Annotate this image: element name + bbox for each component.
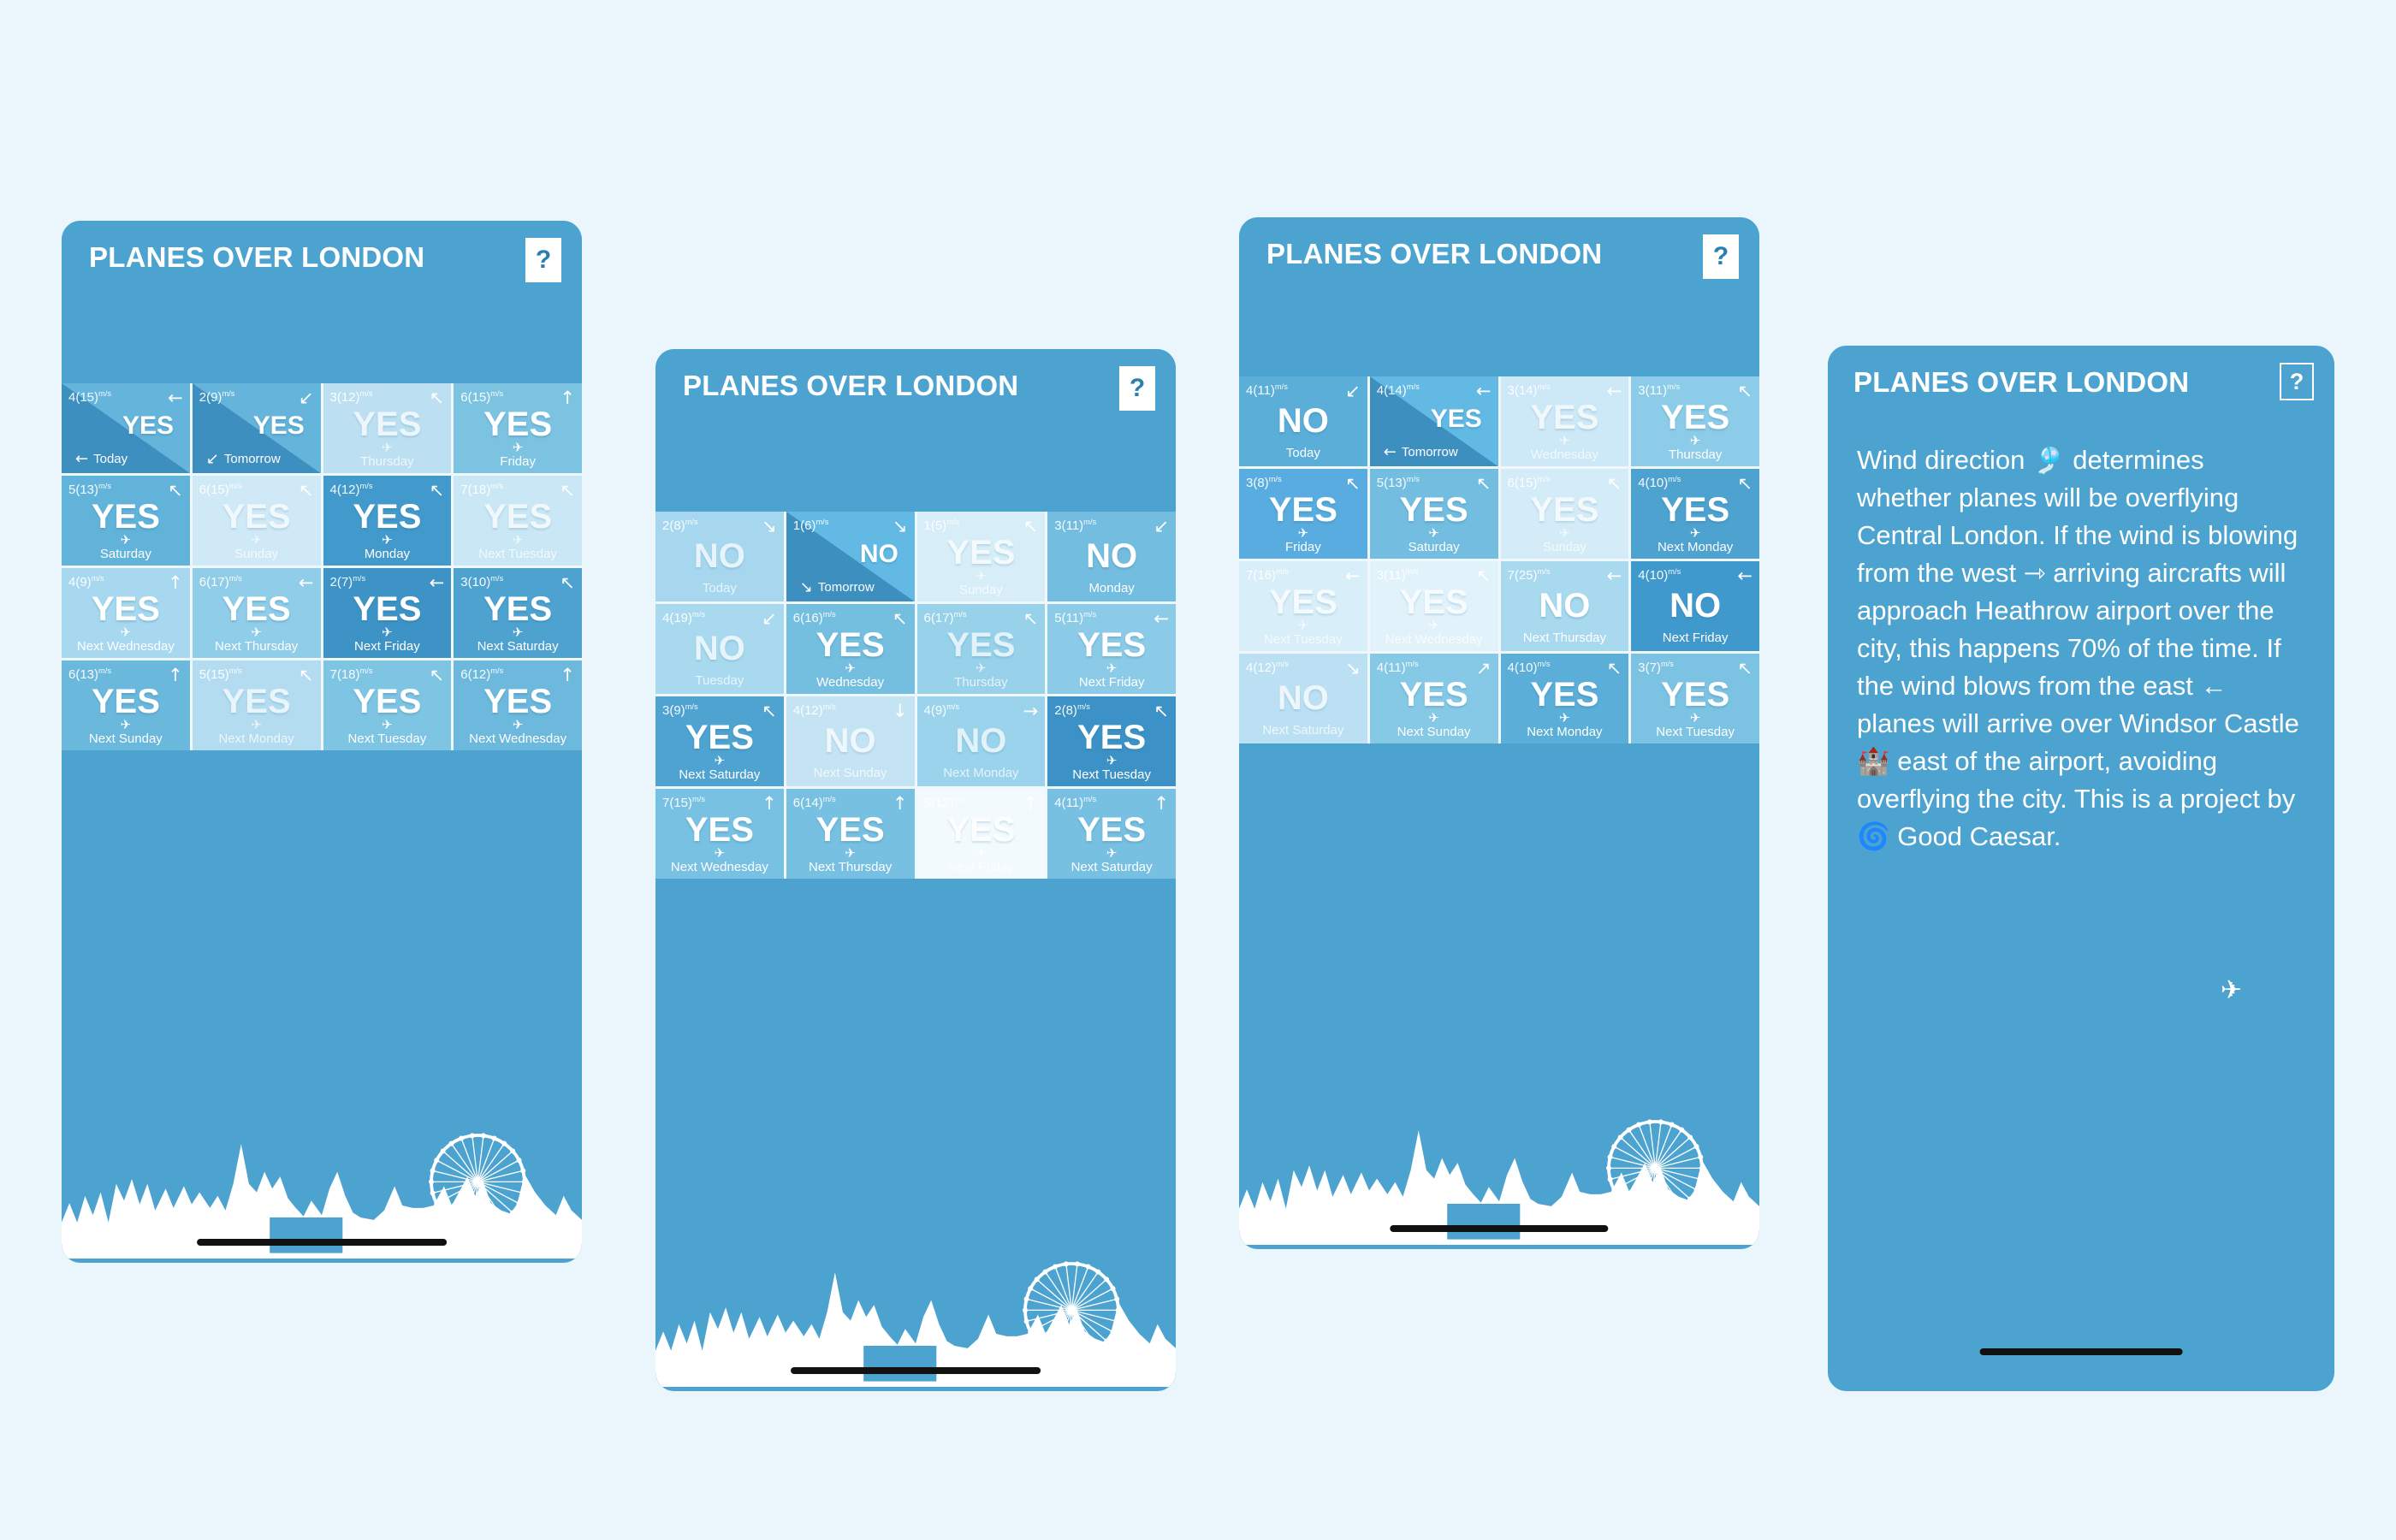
wind-direction-arrow: ↖ [560, 482, 575, 500]
forecast-cell[interactable]: 4(12)m/s↘NONext Saturday [1239, 654, 1367, 743]
overflight-verdict: YES [1661, 678, 1729, 712]
overflight-verdict: YES [92, 684, 160, 719]
overflight-verdict: YES [1530, 400, 1598, 435]
day-label: Thursday [360, 454, 414, 469]
wind-speed-label: 5(15)m/s [199, 666, 242, 682]
wind-speed-label: 4(9)m/s [924, 702, 960, 718]
overflight-verdict: YES [483, 684, 552, 719]
forecast-cell[interactable]: 3(7)m/s↖YES✈Next Tuesday [1631, 654, 1759, 743]
day-label: Next Friday [948, 860, 1014, 874]
wind-direction-arrow: ↖ [762, 702, 777, 720]
overflight-verdict: YES [122, 413, 174, 439]
day-label: Next Monday [1527, 725, 1602, 739]
wind-direction-arrow: ↖ [430, 666, 445, 684]
day-label: Next Monday [1658, 540, 1733, 554]
wind-direction-arrow-secondary: ↙ [206, 452, 219, 467]
day-label: Tuesday [695, 673, 744, 688]
forecast-cell[interactable]: 4(11)m/s↑YES✈Next Saturday [1047, 789, 1176, 879]
wind-speed-label: 4(9)m/s [68, 574, 104, 589]
wind-speed-label: 7(25)m/s [1508, 567, 1551, 583]
wind-direction-arrow: ↖ [299, 666, 314, 684]
overflight-verdict: YES [685, 720, 754, 755]
day-label: Today [1286, 446, 1320, 460]
plane-icon: ✈ [1106, 847, 1118, 860]
overflight-verdict: NO [860, 542, 898, 567]
wind-direction-arrow: ↖ [1154, 702, 1169, 720]
wind-speed-label: 6(17)m/s [199, 574, 242, 589]
forecast-cell[interactable]: 6(15)m/s↖YES✈Sunday [1501, 469, 1629, 559]
wind-speed-label: 3(11)m/s [1377, 567, 1419, 583]
overflight-verdict: YES [1269, 585, 1337, 619]
wind-direction-arrow: ↖ [1737, 475, 1753, 493]
overflight-verdict: YES [946, 813, 1015, 847]
forecast-grid: 2(8)m/s↘NOToday1(6)m/s↘NO↘Tomorrow1(5)m/… [655, 512, 1176, 879]
overflight-verdict: NO [1278, 681, 1329, 715]
wind-speed-label: 5(12)m/s [924, 795, 967, 810]
wind-speed-label: 4(10)m/s [1638, 567, 1681, 583]
wind-speed-label: 6(16)m/s [793, 610, 836, 625]
plane-icon: ✈ [1428, 619, 1439, 632]
wind-direction-arrow-secondary: ← [1384, 445, 1397, 460]
wind-direction-arrow-secondary: ← [75, 452, 88, 467]
day-label: Next Sunday [1397, 725, 1471, 739]
overflight-verdict: YES [1077, 813, 1146, 847]
forecast-grid: 4(11)m/s↙NOToday4(14)m/s←YES←Tomorrow3(1… [1239, 376, 1759, 743]
wind-direction-arrow: → [1023, 702, 1039, 720]
forecast-cell[interactable]: 4(11)m/s↙NOToday [1239, 376, 1367, 466]
wind-direction-arrow: ← [299, 574, 314, 592]
skyline-footer [655, 879, 1176, 1391]
forecast-cell[interactable]: 5(13)m/s↖YES✈Saturday [62, 476, 190, 566]
wind-direction-arrow: ↖ [299, 482, 314, 500]
day-label: Next Thursday [215, 639, 298, 654]
plane-icon: ✈ [1559, 435, 1570, 447]
forecast-cell[interactable]: 2(9)m/s↙YES↙Tomorrow [193, 383, 321, 473]
overflight-verdict: YES [816, 628, 885, 662]
plane-icon: ✈ [251, 534, 262, 547]
plane-icon: ✈ [251, 626, 262, 639]
wind-speed-label: 4(11)m/s [1377, 660, 1419, 675]
panel-header: PLANES OVER LONDON ? [62, 221, 582, 383]
plane-icon: ✈ [1298, 619, 1309, 632]
plane-icon: ✈ [1106, 755, 1118, 767]
wind-direction-arrow: ↖ [1023, 518, 1039, 536]
day-label: Tomorrow [224, 452, 281, 466]
plane-icon: ✈ [1428, 527, 1439, 540]
plane-icon: ✈ [513, 534, 524, 547]
wind-speed-label: 5(13)m/s [68, 482, 111, 497]
wind-speed-label: 4(12)m/s [1246, 660, 1289, 675]
wind-speed-label: 2(9)m/s [199, 389, 235, 405]
overflight-verdict: NO [1669, 589, 1721, 623]
forecast-cell[interactable]: 3(14)m/s←YES✈Wednesday [1501, 376, 1629, 466]
forecast-cell[interactable]: 4(12)m/s↖YES✈Monday [323, 476, 452, 566]
plane-icon: ✈ [1428, 712, 1439, 725]
overflight-verdict: YES [816, 813, 885, 847]
overflight-verdict: YES [353, 407, 421, 441]
plane-icon: ✈ [1690, 435, 1701, 447]
overflight-verdict: NO [694, 631, 745, 666]
day-label: Tomorrow [1402, 445, 1458, 459]
plane-icon: ✈ [976, 847, 987, 860]
wind-direction-arrow: ↑ [168, 574, 183, 592]
wind-speed-label: 6(14)m/s [793, 795, 836, 810]
wind-direction-arrow: ↖ [1476, 567, 1492, 585]
overflight-verdict: YES [253, 413, 305, 439]
day-label: Next Wednesday [469, 731, 566, 746]
forecast-cell[interactable]: 5(15)m/s↖YES✈Next Monday [193, 660, 321, 750]
plane-icon: ✈ [513, 626, 524, 639]
help-button[interactable]: ? [1703, 234, 1739, 279]
about-body-text: Wind direction 🎐 determines whether plan… [1857, 441, 2305, 856]
wind-direction-arrow: ↖ [168, 482, 183, 500]
wind-speed-label: 3(14)m/s [1508, 382, 1551, 398]
plane-icon: ✈ [382, 534, 393, 547]
overflight-verdict: YES [222, 684, 291, 719]
day-label: Next Tuesday [1264, 632, 1343, 647]
day-label: Next Saturday [1262, 723, 1343, 737]
wind-direction-arrow: ↘ [1345, 660, 1361, 678]
day-label: Sunday [234, 547, 278, 561]
forecast-cell[interactable]: 5(11)m/s←YES✈Next Friday [1047, 604, 1176, 694]
wind-speed-label: 5(11)m/s [1054, 610, 1096, 625]
day-label: Next Tuesday [1072, 767, 1151, 782]
wind-direction-arrow: ← [1476, 382, 1492, 400]
wind-direction-arrow-secondary: ↘ [800, 580, 813, 595]
wind-direction-arrow: ↑ [762, 795, 777, 813]
wind-direction-arrow: ↓ [893, 702, 908, 720]
overflight-verdict: YES [1077, 720, 1146, 755]
wind-speed-label: 1(6)m/s [793, 518, 829, 533]
overflight-verdict: NO [1278, 404, 1329, 438]
day-label: Thursday [954, 675, 1008, 690]
plane-icon: ✈ [976, 662, 987, 675]
wind-direction-arrow: ↖ [430, 482, 445, 500]
panel-header: PLANES OVER LONDON ? [1239, 217, 1759, 376]
wind-direction-arrow: ← [1737, 567, 1753, 585]
forecast-cell[interactable]: 4(15)m/s←YES←Today [62, 383, 190, 473]
plane-icon: ✈ [1106, 662, 1118, 675]
day-label: Sunday [1543, 540, 1586, 554]
day-label: Today [93, 452, 128, 466]
day-label: Thursday [1669, 447, 1723, 462]
forecast-cell[interactable]: 3(11)m/s↖YES✈Thursday [1631, 376, 1759, 466]
forecast-cell[interactable]: 3(11)m/s↙NOMonday [1047, 512, 1176, 601]
wind-direction-arrow: ↑ [560, 389, 575, 407]
forecast-cell[interactable]: 6(17)m/s↖YES✈Thursday [917, 604, 1046, 694]
wind-speed-label: 4(12)m/s [793, 702, 836, 718]
wind-direction-arrow: ← [168, 389, 183, 407]
wind-direction-arrow: ↖ [1737, 660, 1753, 678]
overflight-verdict: YES [1269, 493, 1337, 527]
wind-direction-arrow: ← [430, 574, 445, 592]
wind-direction-arrow: ↙ [1154, 518, 1169, 536]
plane-icon: ✈ [513, 719, 524, 731]
page-title: PLANES OVER LONDON [1853, 366, 2189, 399]
forecast-cell[interactable]: 1(5)m/s↖YES✈Sunday [917, 512, 1046, 601]
wind-direction-arrow: ← [1607, 382, 1622, 400]
day-label: Next Sunday [89, 731, 163, 746]
day-label: Sunday [959, 583, 1003, 597]
plane-icon: ✈ [1690, 527, 1701, 540]
forecast-cell[interactable]: 3(12)m/s↖YES✈Thursday [323, 383, 452, 473]
overflight-verdict: YES [92, 500, 160, 534]
overflight-verdict: YES [1400, 493, 1468, 527]
overflight-verdict: YES [1661, 493, 1729, 527]
forecast-cell[interactable]: 6(12)m/s↑YES✈Next Wednesday [454, 660, 582, 750]
wind-speed-label: 3(11)m/s [1638, 382, 1680, 398]
wind-direction-arrow: ↖ [430, 389, 445, 407]
day-label: Monday [1088, 581, 1134, 595]
wind-speed-label: 4(10)m/s [1638, 475, 1681, 490]
wind-direction-arrow: ← [1154, 610, 1169, 628]
wind-speed-label: 2(8)m/s [1054, 702, 1090, 718]
forecast-cell[interactable]: 3(8)m/s↖YES✈Friday [1239, 469, 1367, 559]
forecast-cell[interactable]: 4(14)m/s←YES←Tomorrow [1370, 376, 1498, 466]
day-label: Next Friday [1663, 631, 1729, 645]
help-button[interactable]: ? [1119, 366, 1155, 411]
day-label: Today [703, 581, 737, 595]
day-label: Saturday [1409, 540, 1460, 554]
page-title: PLANES OVER LONDON [683, 370, 1018, 402]
wind-speed-label: 4(14)m/s [1377, 382, 1420, 398]
wind-direction-arrow: ↑ [1154, 795, 1169, 813]
overflight-verdict: YES [946, 536, 1015, 570]
day-label: Next Friday [354, 639, 420, 654]
wind-direction-arrow: ↖ [1607, 660, 1622, 678]
forecast-panel-mixed: PLANES OVER LONDON ? 2(8)m/s↘NOToday1(6)… [655, 349, 1176, 1391]
overflight-verdict: NO [1539, 589, 1590, 623]
forecast-cell[interactable]: 1(6)m/s↘NO↘Tomorrow [786, 512, 915, 601]
forecast-cell[interactable]: 4(12)m/s↓NONext Sunday [786, 696, 915, 786]
forecast-cell[interactable]: 6(15)m/s↑YES✈Friday [454, 383, 582, 473]
overflight-verdict: YES [483, 500, 552, 534]
wind-direction-arrow: ↖ [893, 610, 908, 628]
overflight-verdict: YES [222, 500, 291, 534]
forecast-cell[interactable]: 7(25)m/s←NONext Thursday [1501, 561, 1629, 651]
plane-icon: ✈ [715, 847, 726, 860]
wind-speed-label: 3(12)m/s [330, 389, 373, 405]
panel-header: PLANES OVER LONDON ? [1828, 346, 2334, 441]
wind-speed-label: 2(8)m/s [662, 518, 698, 533]
forecast-cell[interactable]: 7(15)m/s↑YES✈Next Wednesday [655, 789, 784, 879]
page-title: PLANES OVER LONDON [89, 241, 424, 274]
home-indicator[interactable] [791, 1367, 1041, 1374]
wind-speed-label: 3(9)m/s [662, 702, 698, 718]
wind-speed-label: 4(19)m/s [662, 610, 705, 625]
wind-direction-arrow: ↗ [1476, 660, 1492, 678]
home-indicator[interactable] [1980, 1348, 2183, 1355]
overflight-verdict: YES [1400, 678, 1468, 712]
overflight-verdict: YES [483, 592, 552, 626]
day-label: Next Saturday [1071, 860, 1153, 874]
overflight-verdict: YES [1530, 493, 1598, 527]
overflight-verdict: YES [1431, 406, 1482, 432]
wind-direction-arrow: ↙ [299, 389, 314, 407]
forecast-panel-long: PLANES OVER LONDON ? 4(15)m/s←YES←Today2… [62, 221, 582, 1263]
forecast-cell[interactable]: 6(17)m/s←YES✈Next Thursday [193, 568, 321, 658]
plane-icon: ✈ [1690, 712, 1701, 725]
wind-speed-label: 4(10)m/s [1508, 660, 1551, 675]
wind-direction-arrow: ↑ [893, 795, 908, 813]
wind-direction-arrow: ↖ [1023, 610, 1039, 628]
forecast-cell[interactable]: 6(15)m/s↖YES✈Sunday [193, 476, 321, 566]
day-label: Next Saturday [477, 639, 559, 654]
forecast-cell[interactable]: 4(10)m/s↖YES✈Next Monday [1501, 654, 1629, 743]
help-button[interactable]: ? [2280, 363, 2314, 400]
wind-speed-label: 4(15)m/s [68, 389, 111, 405]
plane-icon: ✈ [1559, 527, 1570, 540]
forecast-cell[interactable]: 4(11)m/s↗YES✈Next Sunday [1370, 654, 1498, 743]
home-indicator[interactable] [197, 1239, 447, 1246]
forecast-cell[interactable]: 7(18)m/s↖YES✈Next Tuesday [454, 476, 582, 566]
wind-speed-label: 3(7)m/s [1638, 660, 1674, 675]
skyline-footer [62, 750, 582, 1263]
wind-speed-label: 2(7)m/s [330, 574, 366, 589]
forecast-cell[interactable]: 5(13)m/s↖YES✈Saturday [1370, 469, 1498, 559]
forecast-cell[interactable]: 2(8)m/s↖YES✈Next Tuesday [1047, 696, 1176, 786]
day-label: Next Tuesday [478, 547, 557, 561]
overflight-verdict: YES [1530, 678, 1598, 712]
overflight-verdict: YES [483, 407, 552, 441]
wind-speed-label: 6(13)m/s [68, 666, 111, 682]
overflight-verdict: YES [685, 813, 754, 847]
wind-speed-label: 7(18)m/s [460, 482, 503, 497]
overflight-verdict: YES [353, 592, 421, 626]
overflight-verdict: YES [353, 684, 421, 719]
about-panel: PLANES OVER LONDON ? Wind direction 🎐 de… [1828, 346, 2334, 1391]
skyline-footer [1239, 743, 1759, 1249]
forecast-cell[interactable]: 5(12)m/s↑YES✈Next Friday [917, 789, 1046, 879]
day-label: Next Tuesday [348, 731, 427, 746]
forecast-panel-alt: PLANES OVER LONDON ? 4(11)m/s↙NOToday4(1… [1239, 217, 1759, 1249]
forecast-cell[interactable]: 6(13)m/s↑YES✈Next Sunday [62, 660, 190, 750]
plane-icon: ✈ [845, 847, 856, 860]
wind-direction-arrow: ↖ [1607, 475, 1622, 493]
wind-speed-label: 5(13)m/s [1377, 475, 1420, 490]
forecast-cell[interactable]: 4(9)m/s↑YES✈Next Wednesday [62, 568, 190, 658]
forecast-cell[interactable]: 6(14)m/s↑YES✈Next Thursday [786, 789, 915, 879]
wind-speed-label: 4(11)m/s [1054, 795, 1096, 810]
overflight-verdict: NO [694, 539, 745, 573]
day-label: Next Saturday [679, 767, 760, 782]
help-button[interactable]: ? [525, 238, 561, 282]
forecast-cell[interactable]: 2(7)m/s←YES✈Next Friday [323, 568, 452, 658]
screenshot-stage: PLANES OVER LONDON ? 4(15)m/s←YES←Today2… [0, 0, 2396, 1540]
wind-direction-arrow: ↑ [168, 666, 183, 684]
plane-icon: ✈ [1559, 712, 1570, 725]
wind-direction-arrow: ↘ [762, 518, 777, 536]
forecast-cell[interactable]: 6(16)m/s↖YES✈Wednesday [786, 604, 915, 694]
forecast-cell[interactable]: 4(10)m/s↖YES✈Next Monday [1631, 469, 1759, 559]
wind-direction-arrow: ↙ [762, 610, 777, 628]
overflight-verdict: YES [1400, 585, 1468, 619]
wind-direction-arrow: ← [1345, 567, 1361, 585]
day-label: Friday [500, 454, 536, 469]
plane-icon: ✈ [976, 570, 987, 583]
wind-speed-label: 7(15)m/s [662, 795, 705, 810]
overflight-verdict: NO [955, 724, 1006, 758]
day-label: Next Sunday [814, 766, 887, 780]
overflight-verdict: YES [1661, 400, 1729, 435]
wind-speed-label: 3(11)m/s [1054, 518, 1096, 533]
plane-icon: ✈ [382, 719, 393, 731]
day-label: Next Thursday [1523, 631, 1606, 645]
forecast-cell[interactable]: 7(18)m/s↖YES✈Next Tuesday [323, 660, 452, 750]
plane-icon: ✈ [715, 755, 726, 767]
wind-direction-arrow: ↘ [893, 518, 908, 536]
wind-direction-arrow: ← [1607, 567, 1622, 585]
overflight-verdict: NO [1086, 539, 1137, 573]
plane-icon: ✈ [121, 626, 132, 639]
overflight-verdict: YES [946, 628, 1015, 662]
day-label: Next Wednesday [1385, 632, 1483, 647]
day-label: Next Friday [1079, 675, 1145, 690]
wind-speed-label: 3(10)m/s [460, 574, 503, 589]
wind-direction-arrow: ↑ [560, 666, 575, 684]
wind-speed-label: 6(15)m/s [199, 482, 242, 497]
page-title: PLANES OVER LONDON [1266, 238, 1602, 270]
day-label: Wednesday [1531, 447, 1598, 462]
day-label: Next Tuesday [1656, 725, 1735, 739]
wind-speed-label: 7(16)m/s [1246, 567, 1289, 583]
wind-direction-arrow: ↙ [1345, 382, 1361, 400]
forecast-cell[interactable]: 3(11)m/s↖YES✈Next Wednesday [1370, 561, 1498, 651]
plane-icon: ✈ [382, 626, 393, 639]
day-label: Next Thursday [809, 860, 892, 874]
forecast-cell[interactable]: 2(8)m/s↘NOToday [655, 512, 784, 601]
wind-speed-label: 6(15)m/s [460, 389, 503, 405]
day-label: Next Monday [943, 766, 1018, 780]
forecast-cell[interactable]: 7(16)m/s←YES✈Next Tuesday [1239, 561, 1367, 651]
forecast-cell[interactable]: 3(10)m/s↖YES✈Next Saturday [454, 568, 582, 658]
wind-speed-label: 7(18)m/s [330, 666, 373, 682]
forecast-cell[interactable]: 4(9)m/s→NONext Monday [917, 696, 1046, 786]
home-indicator[interactable] [1390, 1225, 1608, 1232]
plane-icon: ✈ [121, 534, 132, 547]
plane-icon: ✈ [845, 662, 856, 675]
day-label: Saturday [100, 547, 151, 561]
plane-icon: ✈ [121, 719, 132, 731]
overflight-verdict: NO [825, 724, 876, 758]
day-label: Next Wednesday [77, 639, 175, 654]
day-label: Friday [1285, 540, 1321, 554]
forecast-cell[interactable]: 4(19)m/s↙NOTuesday [655, 604, 784, 694]
wind-speed-label: 6(15)m/s [1508, 475, 1551, 490]
overflight-verdict: YES [353, 500, 421, 534]
overflight-verdict: YES [92, 592, 160, 626]
wind-speed-label: 6(17)m/s [924, 610, 967, 625]
forecast-cell[interactable]: 3(9)m/s↖YES✈Next Saturday [655, 696, 784, 786]
day-label: Tomorrow [818, 580, 875, 595]
wind-direction-arrow: ↖ [1476, 475, 1492, 493]
day-label: Wednesday [816, 675, 884, 690]
plane-icon: ✈ [2221, 975, 2242, 1005]
wind-direction-arrow: ↖ [560, 574, 575, 592]
overflight-verdict: YES [222, 592, 291, 626]
day-label: Next Monday [218, 731, 294, 746]
wind-speed-label: 3(8)m/s [1246, 475, 1282, 490]
wind-speed-label: 6(12)m/s [460, 666, 503, 682]
forecast-grid: 4(15)m/s←YES←Today2(9)m/s↙YES↙Tomorrow3(… [62, 383, 582, 750]
day-label: Monday [365, 547, 410, 561]
forecast-cell[interactable]: 4(10)m/s←NONext Friday [1631, 561, 1759, 651]
plane-icon: ✈ [1298, 527, 1309, 540]
wind-speed-label: 1(5)m/s [924, 518, 960, 533]
about-footer: ✈ [1828, 856, 2334, 1391]
plane-icon: ✈ [251, 719, 262, 731]
plane-icon: ✈ [382, 441, 393, 454]
